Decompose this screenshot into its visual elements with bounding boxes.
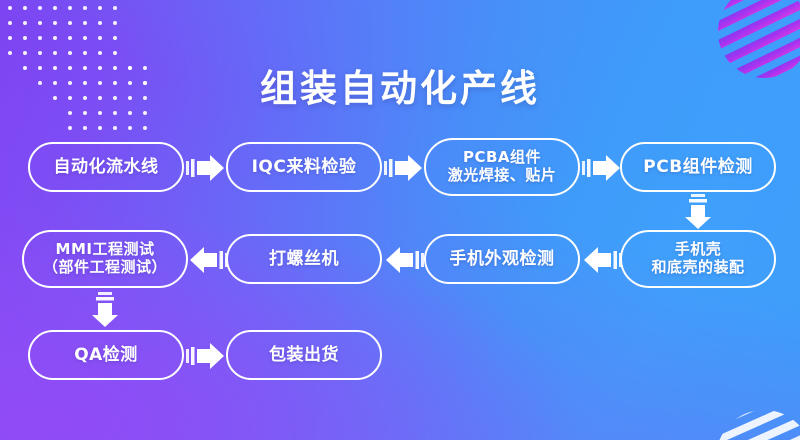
dot bbox=[113, 51, 117, 55]
arrow-down-c4 bbox=[682, 194, 714, 230]
dot bbox=[68, 6, 72, 10]
dot bbox=[83, 6, 87, 10]
dot bbox=[128, 126, 132, 130]
flow-node-label: 自动化流水线 bbox=[54, 157, 159, 177]
flow-node-label: 打螺丝机 bbox=[269, 249, 339, 269]
flow-node-label: 手机外观检测 bbox=[450, 249, 555, 269]
arrow-down-c8 bbox=[89, 292, 121, 328]
flow-node-label: IQC来料检验 bbox=[252, 157, 357, 177]
flow-node-n3[interactable]: PCBA组件 激光焊接、贴片 bbox=[424, 138, 580, 196]
dot bbox=[98, 21, 102, 25]
arrow-right-c9 bbox=[186, 340, 226, 372]
flow-node-n1[interactable]: 自动化流水线 bbox=[28, 142, 184, 192]
dot bbox=[8, 6, 12, 10]
flow-node-label: 手机壳 和底壳的装配 bbox=[651, 241, 744, 276]
dot bbox=[53, 21, 57, 25]
dot bbox=[98, 126, 102, 130]
flow-node-n4[interactable]: PCB组件检测 bbox=[620, 142, 776, 192]
dot bbox=[8, 36, 12, 40]
flow-node-label: QA检测 bbox=[74, 345, 138, 365]
arrow-left-c7 bbox=[188, 244, 228, 276]
dot bbox=[98, 6, 102, 10]
dot bbox=[113, 21, 117, 25]
dot bbox=[53, 51, 57, 55]
flow-node-label: MMI工程测试 （部件工程测试） bbox=[43, 241, 167, 276]
page-title: 组装自动化产线 bbox=[0, 58, 800, 112]
dot bbox=[98, 36, 102, 40]
dot bbox=[53, 36, 57, 40]
dot bbox=[83, 36, 87, 40]
dot bbox=[68, 36, 72, 40]
striped-globe-bottom-right bbox=[716, 410, 800, 440]
dot bbox=[8, 51, 12, 55]
arrow-left-c5 bbox=[582, 244, 622, 276]
dot bbox=[23, 6, 27, 10]
flow-node-n5[interactable]: 手机壳 和底壳的装配 bbox=[620, 230, 776, 288]
arrow-left-c6 bbox=[384, 244, 424, 276]
dot bbox=[68, 51, 72, 55]
flow-node-label: PCB组件检测 bbox=[643, 157, 752, 177]
dot bbox=[98, 51, 102, 55]
slide-canvas: 组装自动化产线 自动化流水线IQC来料检验PCBA组件 激光焊接、贴片PCB组件… bbox=[0, 0, 800, 440]
dot bbox=[68, 21, 72, 25]
dot bbox=[38, 6, 42, 10]
dot bbox=[38, 51, 42, 55]
flow-node-n9[interactable]: QA检测 bbox=[28, 330, 184, 380]
flow-node-n2[interactable]: IQC来料检验 bbox=[226, 142, 382, 192]
dot bbox=[83, 126, 87, 130]
dot bbox=[113, 36, 117, 40]
dot bbox=[113, 6, 117, 10]
dot bbox=[38, 21, 42, 25]
dot bbox=[23, 36, 27, 40]
flow-node-n6[interactable]: 手机外观检测 bbox=[424, 234, 580, 284]
flow-node-label: 包装出货 bbox=[269, 345, 339, 365]
dot bbox=[53, 6, 57, 10]
dot bbox=[38, 36, 42, 40]
flow-node-label: PCBA组件 激光焊接、贴片 bbox=[448, 149, 557, 184]
flow-node-n7[interactable]: 打螺丝机 bbox=[226, 234, 382, 284]
dot bbox=[8, 21, 12, 25]
dot bbox=[23, 51, 27, 55]
arrow-right-c1 bbox=[186, 152, 226, 184]
dot bbox=[68, 126, 72, 130]
flow-node-n8[interactable]: MMI工程测试 （部件工程测试） bbox=[22, 230, 188, 288]
arrow-right-c3 bbox=[582, 152, 622, 184]
dot bbox=[143, 126, 147, 130]
dot bbox=[113, 126, 117, 130]
dot bbox=[23, 21, 27, 25]
dot bbox=[83, 21, 87, 25]
dot bbox=[83, 51, 87, 55]
flow-node-n10[interactable]: 包装出货 bbox=[226, 330, 382, 380]
arrow-right-c2 bbox=[384, 152, 424, 184]
